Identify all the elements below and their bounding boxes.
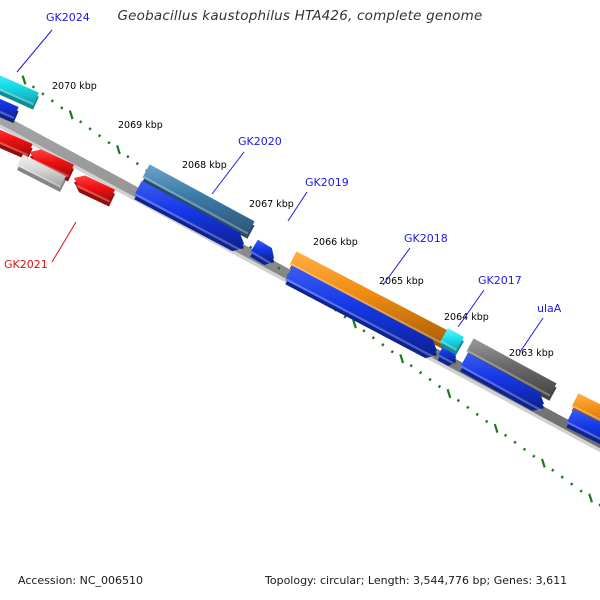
gc-tick-minor — [136, 163, 138, 164]
gene-label-gk2024[interactable]: GK2024 — [46, 11, 90, 24]
ruler-tick-label: 2070 kbp — [52, 81, 97, 92]
gc-tick-minor — [344, 316, 346, 317]
gc-tick-minor — [571, 483, 573, 484]
gene-label-gk2019[interactable]: GK2019 — [305, 176, 349, 189]
gc-tick-minor — [250, 247, 252, 248]
gene-feature-highlight — [290, 263, 444, 345]
gc-tick-minor — [486, 421, 488, 422]
page-title: Geobacillus kaustophilus HTA426, complet… — [117, 8, 482, 24]
gc-tick-minor — [467, 407, 469, 408]
gc-tick-minor — [505, 435, 507, 436]
ruler-tick-label: 2069 kbp — [118, 120, 163, 131]
accession-text: Accession: NC_006510 — [18, 574, 143, 587]
gc-tick-minor — [363, 330, 365, 331]
gene-label-leader — [212, 152, 244, 194]
genome-map-viewer[interactable]: Geobacillus kaustophilus HTA426, complet… — [0, 0, 600, 600]
ruler-label-layer: 2070 kbp2069 kbp2068 kbp2067 kbp2066 kbp… — [52, 81, 554, 359]
gc-tick-minor — [552, 470, 554, 471]
gc-tick-major — [117, 145, 120, 154]
gc-tick-minor — [439, 386, 441, 387]
gc-tick-minor — [561, 476, 563, 477]
gc-tick-minor — [89, 128, 91, 129]
gc-tick-minor — [420, 372, 422, 373]
gene-label-leader — [520, 318, 543, 352]
ruler-tick-label: 2066 kbp — [313, 237, 358, 248]
gene-label-gk2018[interactable]: GK2018 — [404, 232, 448, 245]
gc-tick-minor — [429, 379, 431, 380]
gc-tick-minor — [51, 100, 53, 101]
gc-tick-minor — [524, 449, 526, 450]
gc-tick-minor — [278, 267, 280, 268]
ruler-tick-label: 2064 kbp — [444, 312, 489, 323]
gc-tick-minor — [80, 121, 82, 122]
gc-tick-minor — [382, 344, 384, 345]
gc-tick-minor — [580, 490, 582, 491]
gc-tick-minor — [127, 156, 129, 157]
gc-tick-minor — [42, 93, 44, 94]
gc-tick-major — [400, 354, 403, 363]
gc-tick-major — [542, 459, 545, 468]
gc-tick-major — [448, 389, 451, 398]
ruler-tick-label: 2068 kbp — [182, 160, 227, 171]
gene-label-gk2020[interactable]: GK2020 — [238, 135, 282, 148]
gene-label-gk2017[interactable]: GK2017 — [478, 274, 522, 287]
gene-label-leader — [52, 222, 76, 262]
gc-tick-minor — [514, 442, 516, 443]
gene-label-ulaa[interactable]: ulaA — [537, 302, 562, 315]
gc-tick-major — [589, 494, 592, 503]
gc-tick-minor — [33, 86, 35, 87]
ruler-tick-label: 2067 kbp — [249, 199, 294, 210]
gc-tick-minor — [61, 107, 63, 108]
gc-tick-minor — [99, 135, 101, 136]
gc-tick-minor — [476, 414, 478, 415]
ruler-tick-label: 2063 kbp — [509, 348, 554, 359]
gc-tick-major — [495, 424, 498, 433]
gc-tick-minor — [410, 365, 412, 366]
gc-tick-minor — [108, 142, 110, 143]
gc-tick-minor — [457, 400, 459, 401]
gc-tick-major — [70, 111, 73, 120]
gene-feature[interactable] — [290, 251, 450, 349]
gene-feature-layer[interactable] — [0, 66, 600, 453]
genome-map-canvas[interactable]: Geobacillus kaustophilus HTA426, complet… — [0, 0, 600, 600]
gc-tick-minor — [533, 456, 535, 457]
gene-label-gk2021[interactable]: GK2021 — [4, 258, 48, 271]
genome-summary-text: Topology: circular; Length: 3,544,776 bp… — [264, 574, 567, 587]
gc-tick-minor — [372, 337, 374, 338]
gc-tick-minor — [391, 351, 393, 352]
gc-tick-major — [23, 76, 26, 85]
gene-label-leader — [17, 30, 52, 72]
